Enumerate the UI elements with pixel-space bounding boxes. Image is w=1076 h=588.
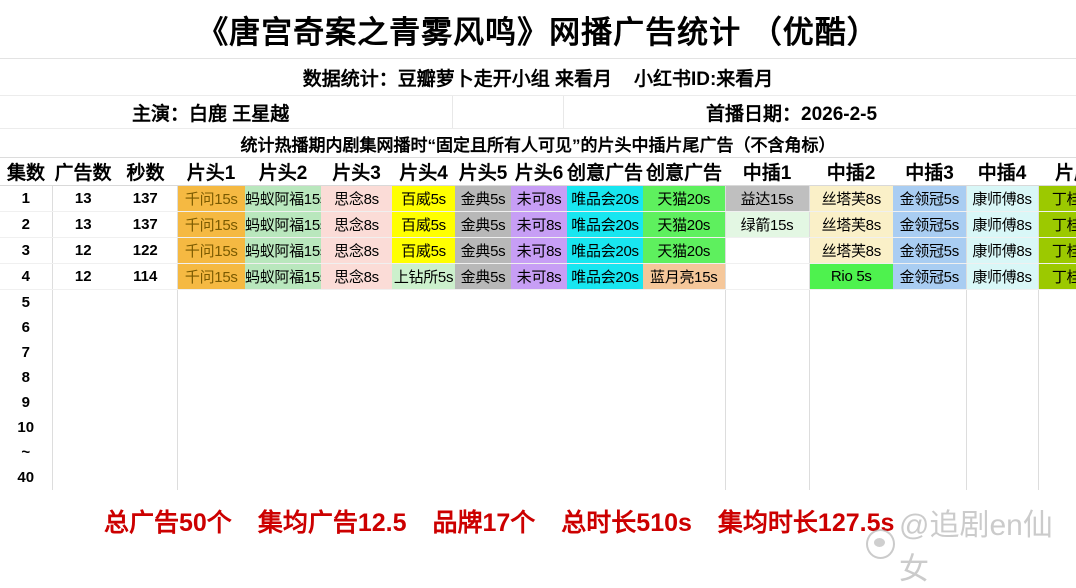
cell-ending bbox=[1038, 290, 1076, 316]
cell-opening-3 bbox=[321, 365, 392, 390]
cell-ending: 丁桂5s bbox=[1038, 264, 1076, 290]
cell-midroll-2: 丝塔芙8s bbox=[809, 212, 893, 238]
cell-midroll-2: 丝塔芙8s bbox=[809, 238, 893, 264]
cell-seconds bbox=[114, 465, 177, 490]
col-header-opening-4: 片头4 bbox=[392, 158, 455, 186]
cell-creative-1 bbox=[567, 365, 643, 390]
cell-episode: 3 bbox=[0, 238, 52, 264]
cell-opening-6 bbox=[511, 390, 567, 415]
summary-item-4: 集均时长127.5s bbox=[718, 503, 894, 539]
cell-midroll-3: 金领冠5s bbox=[893, 186, 966, 212]
cell-ad-count bbox=[52, 315, 114, 340]
col-header-midroll-4: 中插4 bbox=[966, 158, 1038, 186]
summary-item-0: 总广告50个 bbox=[104, 503, 232, 539]
stats-source-label: 数据统计：豆瓣萝卜走开小组 来看月 bbox=[303, 64, 612, 91]
cell-midroll-3 bbox=[893, 290, 966, 316]
cell-opening-5 bbox=[455, 340, 511, 365]
col-header-episode: 集数 bbox=[0, 158, 52, 186]
cell-midroll-3 bbox=[893, 415, 966, 440]
cell-opening-6 bbox=[511, 440, 567, 465]
col-header-opening-1: 片头1 bbox=[177, 158, 245, 186]
col-header-opening-2: 片头2 bbox=[245, 158, 321, 186]
cell-opening-6 bbox=[511, 315, 567, 340]
cell-opening-1: 千问15s bbox=[177, 212, 245, 238]
cell-midroll-3 bbox=[893, 340, 966, 365]
cell-midroll-1: 绿箭15s bbox=[725, 212, 809, 238]
summary-item-2: 品牌17个 bbox=[432, 503, 535, 539]
cell-ending bbox=[1038, 365, 1076, 390]
spreadsheet-screenshot: 《唐宫奇案之青雾风鸣》网播广告统计 （优酷） 数据统计：豆瓣萝卜走开小组 来看月… bbox=[0, 0, 1076, 544]
col-header-creative-1: 创意广告 bbox=[567, 158, 643, 186]
cell-opening-4: 百威5s bbox=[392, 186, 455, 212]
cell-opening-3 bbox=[321, 315, 392, 340]
cell-midroll-3: 金领冠5s bbox=[893, 238, 966, 264]
cell-opening-4 bbox=[392, 315, 455, 340]
cell-creative-2 bbox=[643, 315, 725, 340]
col-header-seconds: 秒数 bbox=[114, 158, 177, 186]
cell-opening-1 bbox=[177, 465, 245, 490]
cell-opening-3 bbox=[321, 290, 392, 316]
cell-midroll-3 bbox=[893, 365, 966, 390]
cell-midroll-2 bbox=[809, 390, 893, 415]
cell-opening-2: 蚂蚁阿福15s bbox=[245, 212, 321, 238]
cell-opening-4 bbox=[392, 290, 455, 316]
cell-opening-4 bbox=[392, 465, 455, 490]
cell-midroll-4 bbox=[966, 290, 1038, 316]
scope-note: 统计热播期内剧集网播时“固定且所有人可见”的片头中插片尾广告（不含角标） bbox=[0, 129, 1076, 158]
cell-opening-2 bbox=[245, 315, 321, 340]
col-header-ad-count: 广告数 bbox=[52, 158, 114, 186]
cell-midroll-1 bbox=[725, 238, 809, 264]
cell-opening-5 bbox=[455, 315, 511, 340]
cell-midroll-3: 金领冠5s bbox=[893, 264, 966, 290]
col-header-creative-2: 创意广告 bbox=[643, 158, 725, 186]
cell-episode: 2 bbox=[0, 212, 52, 238]
cell-creative-1 bbox=[567, 315, 643, 340]
cell-episode: 7 bbox=[0, 340, 52, 365]
cell-midroll-1 bbox=[725, 365, 809, 390]
cell-opening-6: 未可8s bbox=[511, 186, 567, 212]
col-header-ending: 片尾 bbox=[1038, 158, 1076, 186]
cell-creative-1 bbox=[567, 340, 643, 365]
summary-row: 总广告50个集均广告12.5品牌17个总时长510s集均时长127.5s bbox=[0, 498, 1076, 544]
table-row: ~ bbox=[0, 440, 1076, 465]
cell-opening-4 bbox=[392, 390, 455, 415]
cell-opening-3: 思念8s bbox=[321, 264, 392, 290]
cell-seconds bbox=[114, 315, 177, 340]
cell-midroll-2 bbox=[809, 365, 893, 390]
cell-opening-3 bbox=[321, 440, 392, 465]
cell-ad-count: 13 bbox=[52, 212, 114, 238]
cell-opening-5 bbox=[455, 440, 511, 465]
cell-opening-2 bbox=[245, 365, 321, 390]
cell-opening-6 bbox=[511, 415, 567, 440]
data-source-row: 数据统计：豆瓣萝卜走开小组 来看月 小红书ID:来看月 bbox=[0, 59, 1076, 96]
cell-ending bbox=[1038, 415, 1076, 440]
cell-midroll-2 bbox=[809, 440, 893, 465]
cell-opening-5 bbox=[455, 415, 511, 440]
cell-episode: 1 bbox=[0, 186, 52, 212]
cell-seconds bbox=[114, 390, 177, 415]
cell-episode: 8 bbox=[0, 365, 52, 390]
cell-creative-2: 天猫20s bbox=[643, 186, 725, 212]
cell-opening-5: 金典5s bbox=[455, 264, 511, 290]
cell-ad-count bbox=[52, 290, 114, 316]
cell-opening-2 bbox=[245, 290, 321, 316]
cell-opening-3 bbox=[321, 340, 392, 365]
cell-opening-3: 思念8s bbox=[321, 212, 392, 238]
cell-seconds bbox=[114, 415, 177, 440]
cast-label: 主演：白鹿 王星越 bbox=[132, 99, 289, 126]
cell-midroll-4: 康师傅8s bbox=[966, 186, 1038, 212]
table-row: 8 bbox=[0, 365, 1076, 390]
cell-seconds: 122 bbox=[114, 238, 177, 264]
cell-seconds: 137 bbox=[114, 186, 177, 212]
cell-opening-1 bbox=[177, 390, 245, 415]
cell-opening-4: 百威5s bbox=[392, 238, 455, 264]
cell-opening-3 bbox=[321, 465, 392, 490]
cell-opening-6 bbox=[511, 340, 567, 365]
cell-ending bbox=[1038, 440, 1076, 465]
cell-opening-6: 未可8s bbox=[511, 238, 567, 264]
cell-creative-2 bbox=[643, 365, 725, 390]
cell-opening-4 bbox=[392, 340, 455, 365]
col-header-midroll-1: 中插1 bbox=[725, 158, 809, 186]
cell-creative-2 bbox=[643, 390, 725, 415]
cell-creative-2: 天猫20s bbox=[643, 212, 725, 238]
cell-ad-count bbox=[52, 415, 114, 440]
summary-item-3: 总时长510s bbox=[561, 503, 692, 539]
cell-opening-1 bbox=[177, 415, 245, 440]
table-row: 6 bbox=[0, 315, 1076, 340]
table-row: 7 bbox=[0, 340, 1076, 365]
cell-episode: 9 bbox=[0, 390, 52, 415]
cell-midroll-2 bbox=[809, 415, 893, 440]
cell-opening-4: 百威5s bbox=[392, 212, 455, 238]
cell-opening-4 bbox=[392, 440, 455, 465]
cell-creative-2 bbox=[643, 465, 725, 490]
cell-creative-2 bbox=[643, 440, 725, 465]
cell-ad-count bbox=[52, 440, 114, 465]
cell-ad-count bbox=[52, 340, 114, 365]
cell-midroll-3 bbox=[893, 315, 966, 340]
cell-opening-5 bbox=[455, 390, 511, 415]
cell-opening-1 bbox=[177, 365, 245, 390]
cell-episode: 5 bbox=[0, 290, 52, 316]
cell-seconds bbox=[114, 340, 177, 365]
cell-seconds bbox=[114, 290, 177, 316]
cell-creative-1: 唯品会20s bbox=[567, 238, 643, 264]
ad-statistics-table: 集数 广告数 秒数 片头1 片头2 片头3 片头4 片头5 片头6 创意广告 创… bbox=[0, 158, 1076, 490]
table-row: 9 bbox=[0, 390, 1076, 415]
col-header-opening-5: 片头5 bbox=[455, 158, 511, 186]
cell-midroll-4 bbox=[966, 340, 1038, 365]
cell-opening-5 bbox=[455, 465, 511, 490]
cell-opening-1: 千问15s bbox=[177, 264, 245, 290]
cell-ending bbox=[1038, 390, 1076, 415]
cell-opening-1: 千问15s bbox=[177, 186, 245, 212]
cell-seconds bbox=[114, 440, 177, 465]
xiaohongshu-id-label: 小红书ID:来看月 bbox=[634, 64, 773, 91]
col-header-opening-3: 片头3 bbox=[321, 158, 392, 186]
cell-opening-5 bbox=[455, 365, 511, 390]
cell-ending: 丁桂5s bbox=[1038, 238, 1076, 264]
cell-creative-2: 蓝月亮15s bbox=[643, 264, 725, 290]
cell-midroll-4 bbox=[966, 465, 1038, 490]
cell-opening-2 bbox=[245, 440, 321, 465]
cell-midroll-4: 康师傅8s bbox=[966, 264, 1038, 290]
cell-midroll-2 bbox=[809, 290, 893, 316]
cell-creative-1: 唯品会20s bbox=[567, 186, 643, 212]
cell-opening-5: 金典5s bbox=[455, 238, 511, 264]
cell-opening-5: 金典5s bbox=[455, 212, 511, 238]
cell-opening-4 bbox=[392, 415, 455, 440]
cell-opening-1 bbox=[177, 315, 245, 340]
cell-midroll-1 bbox=[725, 340, 809, 365]
grid-vline bbox=[563, 96, 564, 128]
cell-ad-count: 13 bbox=[52, 186, 114, 212]
cell-midroll-4 bbox=[966, 315, 1038, 340]
cell-opening-2: 蚂蚁阿福15s bbox=[245, 238, 321, 264]
cell-opening-2: 蚂蚁阿福15s bbox=[245, 186, 321, 212]
cell-midroll-1 bbox=[725, 390, 809, 415]
cell-opening-6 bbox=[511, 290, 567, 316]
cell-ending bbox=[1038, 315, 1076, 340]
cell-opening-1: 千问15s bbox=[177, 238, 245, 264]
cell-midroll-1 bbox=[725, 264, 809, 290]
cell-midroll-2: 丝塔芙8s bbox=[809, 186, 893, 212]
cell-opening-1 bbox=[177, 340, 245, 365]
summary-item-1: 集均广告12.5 bbox=[258, 503, 407, 539]
cell-midroll-1 bbox=[725, 315, 809, 340]
cell-ending bbox=[1038, 340, 1076, 365]
cell-opening-6: 未可8s bbox=[511, 264, 567, 290]
cell-ending: 丁桂5s bbox=[1038, 212, 1076, 238]
table-header-row: 集数 广告数 秒数 片头1 片头2 片头3 片头4 片头5 片头6 创意广告 创… bbox=[0, 158, 1076, 186]
cell-creative-1 bbox=[567, 440, 643, 465]
table-row: 10 bbox=[0, 415, 1076, 440]
cell-midroll-2 bbox=[809, 315, 893, 340]
cell-creative-1 bbox=[567, 415, 643, 440]
cell-opening-3: 思念8s bbox=[321, 186, 392, 212]
cell-creative-2 bbox=[643, 415, 725, 440]
cell-episode: 4 bbox=[0, 264, 52, 290]
table-body: 113137千问15s蚂蚁阿福15s思念8s百威5s金典5s未可8s唯品会20s… bbox=[0, 186, 1076, 491]
cell-ad-count bbox=[52, 465, 114, 490]
cell-midroll-1 bbox=[725, 290, 809, 316]
cell-opening-2 bbox=[245, 390, 321, 415]
cell-ad-count: 12 bbox=[52, 238, 114, 264]
cell-midroll-4: 康师傅8s bbox=[966, 212, 1038, 238]
cell-midroll-2 bbox=[809, 340, 893, 365]
cell-midroll-1 bbox=[725, 440, 809, 465]
table-row: 5 bbox=[0, 290, 1076, 316]
cell-midroll-4 bbox=[966, 365, 1038, 390]
cell-episode: 6 bbox=[0, 315, 52, 340]
cell-episode: ~ bbox=[0, 440, 52, 465]
cell-opening-6: 未可8s bbox=[511, 212, 567, 238]
cell-midroll-4 bbox=[966, 390, 1038, 415]
table-row: 213137千问15s蚂蚁阿福15s思念8s百威5s金典5s未可8s唯品会20s… bbox=[0, 212, 1076, 238]
cell-opening-2 bbox=[245, 465, 321, 490]
cell-creative-1 bbox=[567, 290, 643, 316]
cell-opening-6 bbox=[511, 465, 567, 490]
col-header-opening-6: 片头6 bbox=[511, 158, 567, 186]
cell-midroll-2 bbox=[809, 465, 893, 490]
cell-midroll-2: Rio 5s bbox=[809, 264, 893, 290]
table-row: 40 bbox=[0, 465, 1076, 490]
cell-midroll-4 bbox=[966, 415, 1038, 440]
cell-seconds bbox=[114, 365, 177, 390]
table-row: 113137千问15s蚂蚁阿福15s思念8s百威5s金典5s未可8s唯品会20s… bbox=[0, 186, 1076, 212]
cell-seconds: 137 bbox=[114, 212, 177, 238]
cell-opening-4: 上钻所5s bbox=[392, 264, 455, 290]
cell-midroll-1: 益达15s bbox=[725, 186, 809, 212]
cell-opening-4 bbox=[392, 365, 455, 390]
cell-episode: 10 bbox=[0, 415, 52, 440]
cell-ending: 丁桂5s bbox=[1038, 186, 1076, 212]
cell-opening-2 bbox=[245, 340, 321, 365]
cell-midroll-4: 康师傅8s bbox=[966, 238, 1038, 264]
cell-creative-1: 唯品会20s bbox=[567, 264, 643, 290]
page-title: 《唐宫奇案之青雾风鸣》网播广告统计 （优酷） bbox=[0, 0, 1076, 59]
cell-midroll-3 bbox=[893, 390, 966, 415]
premiere-label: 首播日期：2026-2-5 bbox=[706, 99, 877, 126]
cast-and-premiere-row: 主演：白鹿 王星越 首播日期：2026-2-5 bbox=[0, 96, 1076, 129]
cell-opening-6 bbox=[511, 365, 567, 390]
cell-opening-5: 金典5s bbox=[455, 186, 511, 212]
cell-opening-2 bbox=[245, 415, 321, 440]
cell-midroll-1 bbox=[725, 415, 809, 440]
col-header-midroll-2: 中插2 bbox=[809, 158, 893, 186]
cell-ad-count bbox=[52, 390, 114, 415]
cell-opening-2: 蚂蚁阿福15s bbox=[245, 264, 321, 290]
cell-seconds: 114 bbox=[114, 264, 177, 290]
cell-creative-1 bbox=[567, 390, 643, 415]
cell-creative-1 bbox=[567, 465, 643, 490]
cell-midroll-3 bbox=[893, 465, 966, 490]
cell-opening-1 bbox=[177, 290, 245, 316]
cell-creative-1: 唯品会20s bbox=[567, 212, 643, 238]
cell-opening-3: 思念8s bbox=[321, 238, 392, 264]
cell-midroll-4 bbox=[966, 440, 1038, 465]
cell-opening-1 bbox=[177, 440, 245, 465]
cell-creative-2 bbox=[643, 340, 725, 365]
col-header-midroll-3: 中插3 bbox=[893, 158, 966, 186]
table-row: 412114千问15s蚂蚁阿福15s思念8s上钻所5s金典5s未可8s唯品会20… bbox=[0, 264, 1076, 290]
cell-midroll-3: 金领冠5s bbox=[893, 212, 966, 238]
cell-episode: 40 bbox=[0, 465, 52, 490]
cell-midroll-1 bbox=[725, 465, 809, 490]
cell-ad-count bbox=[52, 365, 114, 390]
cell-midroll-3 bbox=[893, 440, 966, 465]
cell-opening-3 bbox=[321, 390, 392, 415]
cell-creative-2: 天猫20s bbox=[643, 238, 725, 264]
cell-creative-2 bbox=[643, 290, 725, 316]
grid-vline bbox=[452, 96, 453, 128]
cell-ending bbox=[1038, 465, 1076, 490]
table-row: 312122千问15s蚂蚁阿福15s思念8s百威5s金典5s未可8s唯品会20s… bbox=[0, 238, 1076, 264]
cell-opening-5 bbox=[455, 290, 511, 316]
cell-opening-3 bbox=[321, 415, 392, 440]
cell-ad-count: 12 bbox=[52, 264, 114, 290]
